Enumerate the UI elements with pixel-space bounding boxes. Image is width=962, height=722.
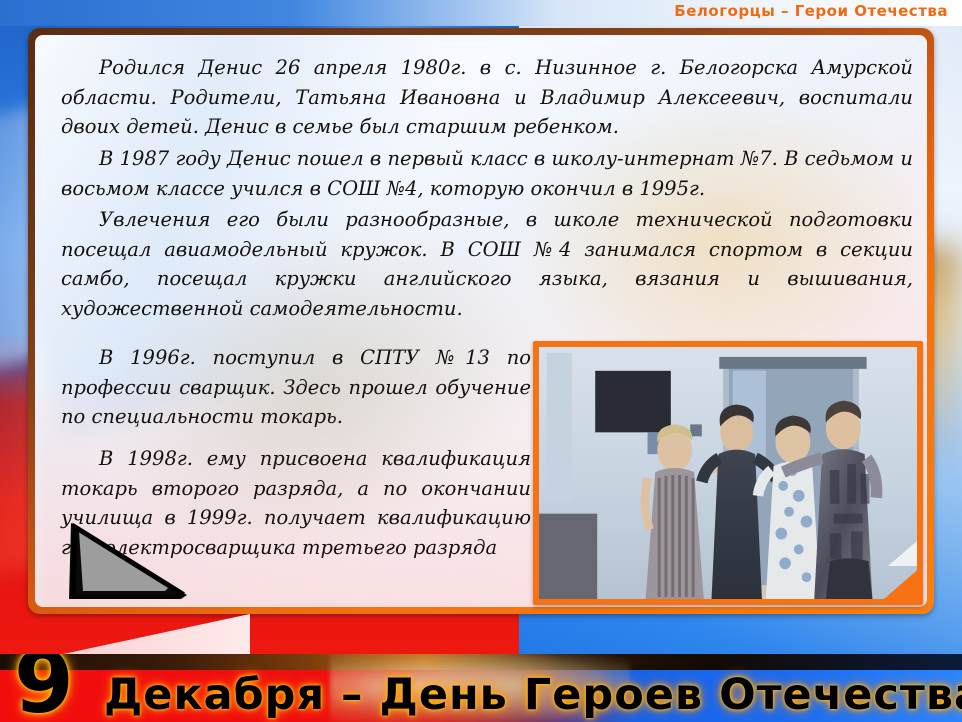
photo-corner-fold: [877, 565, 917, 599]
folded-corner-decoration: [69, 521, 189, 599]
banner-day-number: 9: [14, 654, 74, 722]
paragraph: В 1987 году Денис пошел в первый класс в…: [61, 144, 913, 203]
paragraph: В 1996г. поступил в СПТУ №13 по професси…: [61, 343, 531, 432]
biography-text-upper: Родился Денис 26 апреля 1980г. в с. Низи…: [61, 53, 913, 326]
banner-title: Декабря – День Героев Отечества: [104, 673, 962, 718]
slide: Белогорцы – Герои Отечества Родился Дени…: [0, 0, 962, 722]
header-title: Белогорцы – Герои Отечества: [674, 2, 948, 20]
bottom-banner: 9 Декабря – День Героев Отечества: [0, 654, 962, 722]
photo-image: [539, 347, 917, 599]
paragraph: Родился Денис 26 апреля 1980г. в с. Низи…: [61, 53, 913, 142]
photo-frame: [533, 341, 923, 605]
photo-corner-fold-inner: [888, 535, 917, 566]
paragraph: Увлечения его были разнообразные, в школ…: [61, 205, 913, 324]
